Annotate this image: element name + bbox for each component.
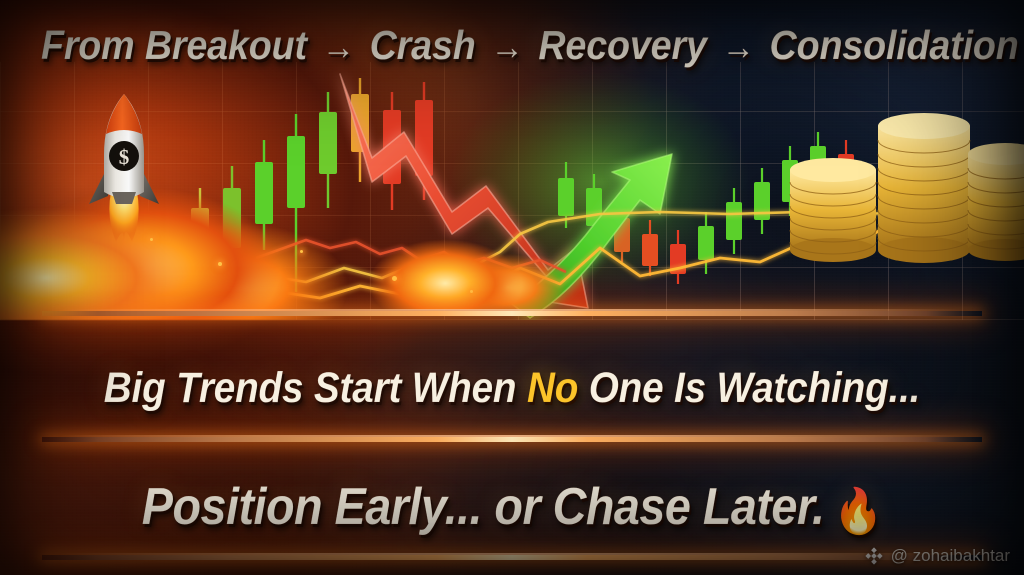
coin-stack-left [790, 158, 876, 262]
coin-stack-center [878, 113, 970, 263]
title-word-breakout: From Breakout [41, 22, 307, 68]
tagline-secondary-text: Position Early... or Chase Later. [142, 478, 825, 536]
arrow-right-icon: → [317, 26, 359, 67]
coin-stack-right [968, 143, 1024, 261]
arrow-right-icon: → [717, 26, 759, 67]
tagline-primary-highlight: No [527, 364, 578, 412]
divider-middle [0, 434, 1024, 445]
watermark: @ zohaibakhtar [863, 545, 1010, 567]
poster-canvas: $ From Breakout → Crash → Recovery → Con… [0, 0, 1024, 575]
divider-top [0, 308, 1024, 319]
fire-blaze-center [330, 215, 570, 310]
rocket-nose-cone [106, 94, 142, 134]
page-title: From Breakout → Crash → Recovery → Conso… [41, 22, 983, 69]
watermark-handle: @ zohaibakhtar [891, 546, 1010, 566]
tagline-primary-after: One Is Watching... [578, 364, 920, 412]
ember-particle [392, 276, 397, 281]
rocket-emblem-symbol: $ [119, 145, 130, 169]
arrow-right-icon: → [486, 26, 528, 67]
binance-diamond-icon [863, 545, 885, 567]
rocket-icon: $ [78, 92, 170, 242]
title-word-recovery: Recovery [538, 22, 706, 68]
ember-particle [300, 250, 303, 253]
tagline-primary: Big Trends Start When No One Is Watching… [51, 364, 973, 413]
title-word-crash: Crash [370, 22, 476, 68]
ember-particle [470, 290, 473, 293]
tagline-primary-before: Big Trends Start When [104, 364, 527, 412]
ember-particle [218, 262, 222, 266]
rocket-nozzle [112, 192, 136, 204]
gold-coin-stacks [790, 113, 1024, 263]
fire-emoji-icon: 🔥 [824, 487, 882, 536]
tagline-secondary: Position Early... or Chase Later.🔥 [51, 477, 973, 537]
title-word-consolidation: Consolidation [770, 22, 1019, 68]
